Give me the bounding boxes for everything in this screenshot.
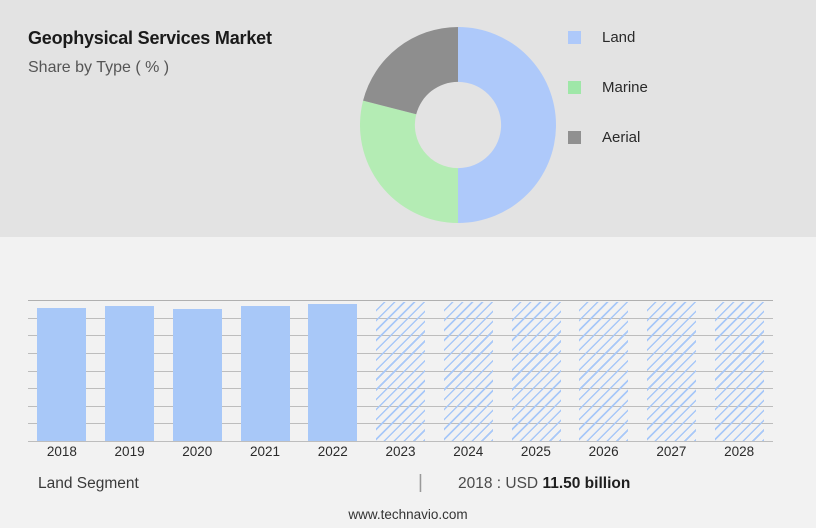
bar-series: [28, 300, 773, 441]
bar-2024[interactable]: [444, 302, 493, 441]
segment-value: 2018 : USD 11.50 billion: [458, 475, 630, 493]
bar-2021[interactable]: [241, 306, 290, 441]
bar-2027[interactable]: [647, 302, 696, 441]
legend-item-aerial[interactable]: Aerial: [568, 112, 798, 162]
bar-2020[interactable]: [173, 309, 222, 441]
donut-slice-marine[interactable]: [360, 101, 458, 223]
bar-2019[interactable]: [105, 306, 154, 441]
x-tick-2021: 2021: [231, 444, 299, 459]
title-block: Geophysical Services Market Share by Typ…: [28, 28, 358, 77]
x-tick-2020: 2020: [163, 444, 231, 459]
x-tick-2024: 2024: [434, 444, 502, 459]
segment-label: Land Segment: [38, 475, 139, 493]
page-title: Geophysical Services Market: [28, 28, 358, 50]
segment-value-highlight: 11.50 billion: [542, 475, 630, 492]
x-tick-2027: 2027: [638, 444, 706, 459]
bar-2022[interactable]: [308, 304, 357, 441]
x-tick-2022: 2022: [299, 444, 367, 459]
site-url[interactable]: www.technavio.com: [0, 507, 816, 522]
square-swatch-icon: [568, 81, 581, 94]
x-tick-2025: 2025: [502, 444, 570, 459]
bar-2028[interactable]: [715, 302, 764, 441]
legend-label: Land: [602, 29, 635, 46]
legend: Land Marine Aerial: [568, 12, 798, 162]
legend-item-land[interactable]: Land: [568, 12, 798, 62]
x-tick-2026: 2026: [570, 444, 638, 459]
square-swatch-icon: [568, 31, 581, 44]
x-tick-2028: 2028: [705, 444, 773, 459]
donut-slice-aerial[interactable]: [363, 27, 458, 114]
donut-chart-svg: [358, 25, 558, 225]
footer: Land Segment | 2018 : USD 11.50 billion: [0, 475, 816, 509]
page-subtitle: Share by Type ( % ): [28, 58, 358, 77]
legend-label: Aerial: [602, 129, 640, 146]
bar-2018[interactable]: [37, 308, 86, 441]
donut-chart: [358, 25, 558, 225]
bar-2025[interactable]: [512, 302, 561, 441]
bar-2026[interactable]: [579, 302, 628, 441]
footer-separator: |: [418, 472, 423, 494]
x-tick-2023: 2023: [367, 444, 435, 459]
donut-chart-panel: Geophysical Services Market Share by Typ…: [0, 0, 816, 237]
legend-item-marine[interactable]: Marine: [568, 62, 798, 112]
gridline: [28, 441, 773, 442]
x-tick-2019: 2019: [96, 444, 164, 459]
bar-2023[interactable]: [376, 302, 425, 441]
bar-chart-panel: 2018201920202021202220232024202520262027…: [0, 237, 816, 528]
bar-chart-plot-area: [28, 300, 773, 441]
x-axis-tick-labels: 2018201920202021202220232024202520262027…: [28, 444, 773, 466]
x-tick-2018: 2018: [28, 444, 96, 459]
segment-value-prefix: 2018 : USD: [458, 475, 542, 492]
square-swatch-icon: [568, 131, 581, 144]
legend-label: Marine: [602, 79, 648, 96]
donut-slice-land[interactable]: [458, 27, 556, 223]
